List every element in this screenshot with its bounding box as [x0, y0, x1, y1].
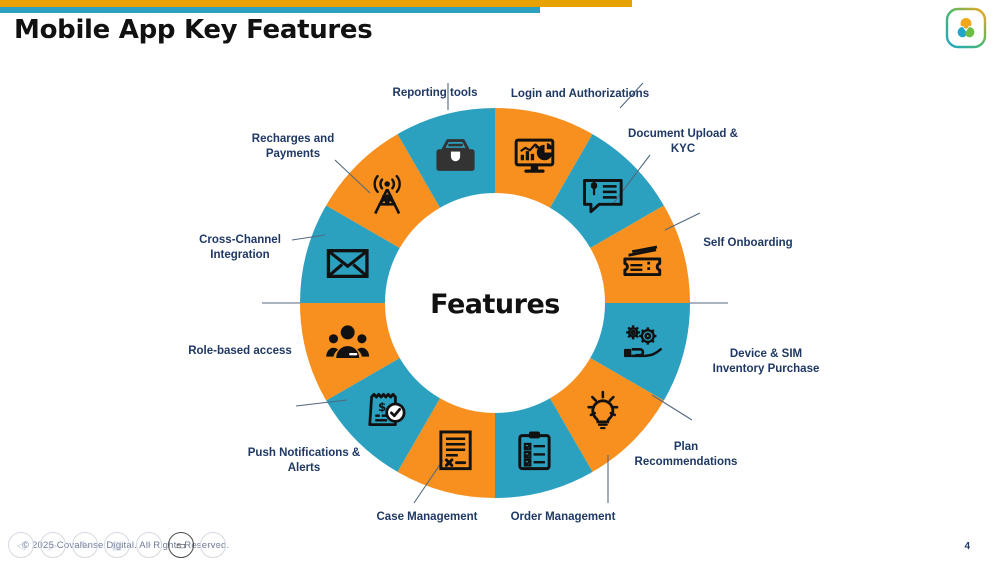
donut-center-label: Features: [430, 289, 560, 320]
segment-label: Device & SIMInventory Purchase: [713, 348, 820, 375]
segment-label: PlanRecommendations: [635, 441, 738, 468]
features-donut-chart: $: [0, 0, 1000, 562]
segment-label: Reporting tools: [393, 87, 478, 99]
segment-label: Login and Authorizations: [511, 88, 649, 100]
present-button[interactable]: ▭: [168, 532, 194, 558]
zoom-button[interactable]: ⌕: [136, 532, 162, 558]
segment-label: Role-based access: [188, 345, 292, 357]
grid-view-button[interactable]: ▤: [104, 532, 130, 558]
segment-label: Self Onboarding: [703, 237, 792, 249]
segment-label: Case Management: [377, 511, 478, 523]
segment-label: Recharges andPayments: [252, 133, 334, 160]
svg-text:$: $: [378, 400, 386, 414]
segment-label: Order Management: [511, 511, 616, 523]
page-number: 4: [964, 541, 970, 552]
pen-button[interactable]: ✎: [72, 532, 98, 558]
prev-slide-button[interactable]: ◁: [8, 532, 34, 558]
segment-label: Cross-ChannelIntegration: [199, 234, 281, 261]
segment-label: Push Notifications &Alerts: [248, 447, 360, 474]
play-button[interactable]: ▷: [40, 532, 66, 558]
segment-label: Document Upload &KYC: [628, 128, 738, 155]
slide-canvas: Mobile App Key Features: [0, 0, 1000, 562]
more-button[interactable]: ⋯: [200, 532, 226, 558]
